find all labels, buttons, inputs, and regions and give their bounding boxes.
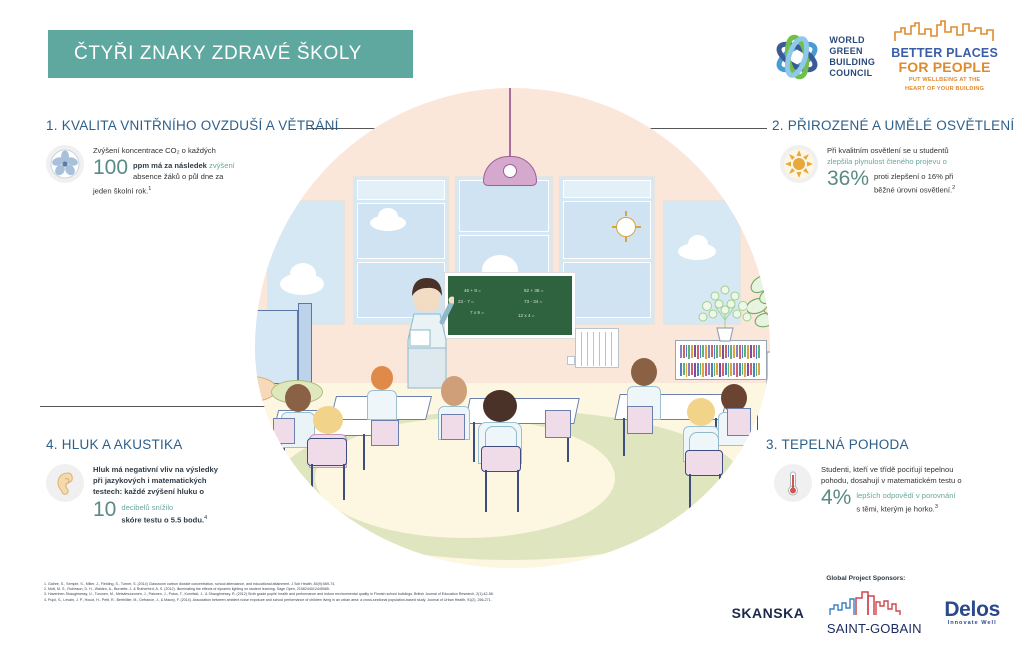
section-1-stat-text: ppm má za následek zvýšení absence žáků … <box>133 157 235 182</box>
equation: 46 + 8 = <box>464 288 481 293</box>
section-1-lead: Zvýšení koncentrace CO₂ o každých <box>93 145 235 156</box>
chair <box>307 438 347 466</box>
book <box>702 345 704 357</box>
radiator-fin <box>599 332 600 366</box>
fan-icon <box>46 145 84 183</box>
s1-after1: ppm má za následek <box>133 161 207 170</box>
leader-line-4 <box>40 406 285 407</box>
book <box>711 363 713 377</box>
book <box>694 345 696 357</box>
book <box>705 345 707 359</box>
sun-ray <box>612 226 617 228</box>
section-2-lead2: zlepšila plynulost čteného projevu o <box>827 156 955 167</box>
book <box>739 345 741 359</box>
delos-logo: Delos Innovate Well <box>944 600 1000 626</box>
book <box>730 345 732 359</box>
potted-plant-large-icon <box>747 258 770 388</box>
section-2-number: 36% <box>827 168 869 189</box>
section-4-text: Hluk má negativní vliv na výsledky při j… <box>93 464 218 527</box>
book <box>683 345 685 358</box>
book <box>705 363 707 376</box>
student-head <box>441 376 467 406</box>
delos-tagline: Innovate Well <box>944 620 1000 626</box>
section-1-tail-wrap: jeden školní rok.1 <box>93 184 235 197</box>
book <box>725 345 727 358</box>
ear-icon <box>46 464 84 502</box>
book <box>744 345 746 357</box>
desk-leg <box>623 418 625 456</box>
sun-icon <box>616 217 636 237</box>
chair-leg <box>311 464 313 500</box>
sun-ray <box>625 237 627 242</box>
desk-leg <box>473 422 475 462</box>
section-3-body: Studenti, kteří ve třídě pociťují tepeln… <box>774 464 962 515</box>
section-2: 2. PŘIROZENÉ A UMĚLÉ OSVĚTLENÍ Při kvali… <box>772 118 1014 196</box>
section-1-text: Zvýšení koncentrace CO₂ o každých 100 pp… <box>93 145 235 196</box>
section-4-lead3: testech: každé zvýšení hluku o <box>93 486 218 497</box>
book <box>688 345 690 359</box>
book <box>700 345 702 358</box>
book <box>716 345 718 358</box>
better-places-logo: BETTER PLACES FOR PEOPLE PUT WELLBEING A… <box>891 20 998 93</box>
section-2-heading: 2. PŘIROZENÉ A UMĚLÉ OSVĚTLENÍ <box>772 118 1014 133</box>
book <box>686 345 688 357</box>
page-title: ČTYŘI ZNAKY ZDRAVÉ ŠKOLY <box>48 43 362 65</box>
student-head <box>285 384 311 412</box>
chair <box>727 408 751 436</box>
section-4-number: 10 <box>93 499 116 520</box>
book <box>739 363 741 376</box>
window-pane <box>459 180 549 232</box>
window-pane <box>563 262 651 318</box>
equation: 23 - 7 = <box>458 299 474 304</box>
cloud-icon <box>290 263 316 285</box>
wgbc-line-3: BUILDING <box>829 57 875 68</box>
book <box>691 345 693 358</box>
book <box>733 345 735 358</box>
student-head <box>483 390 517 422</box>
radiator-fin <box>605 332 606 366</box>
section-2-ref: 2 <box>952 185 955 191</box>
book <box>719 363 721 377</box>
student-head <box>371 366 393 390</box>
section-3: 3. TEPELNÁ POHODA Studenti, kteří ve tří… <box>766 437 962 515</box>
book <box>742 345 744 358</box>
chair-leg <box>485 470 487 512</box>
book <box>744 363 746 377</box>
bpfp-line-2: FOR PEOPLE <box>891 60 998 75</box>
section-4: 4. HLUK A AKUSTIKA Hluk má negativní vli… <box>46 437 218 527</box>
section-3-lead2: pohodu, dosahují v matematickém testu o <box>821 475 962 486</box>
section-4-lead2: při jazykových i matematických <box>93 475 218 486</box>
sun-icon <box>780 145 818 183</box>
book <box>697 363 699 376</box>
s3-after1: lepších odpovědí v porovnání <box>856 491 955 500</box>
cloud-icon <box>378 208 398 225</box>
chair-leg <box>517 470 519 512</box>
book <box>733 363 735 375</box>
title-banner: ČTYŘI ZNAKY ZDRAVÉ ŠKOLY <box>48 30 413 78</box>
projection-screen <box>255 310 298 384</box>
section-1-number: 100 <box>93 157 128 178</box>
student-head <box>631 358 657 386</box>
book <box>680 345 682 358</box>
section-1-ref: 1 <box>148 186 151 192</box>
radiator <box>575 328 619 368</box>
sponsors-row: SKANSKA SAINT-GOBAIN Delos Innovate Well <box>732 590 1000 636</box>
book <box>697 345 699 359</box>
equation: 7 x 9 = <box>470 310 484 315</box>
sponsors-block: Global Project Sponsors: SKANSKA SAINT-G… <box>732 575 1000 636</box>
window-pane <box>357 203 445 259</box>
skanska-logo: SKANSKA <box>732 605 805 621</box>
radiator-fin <box>593 332 594 366</box>
s2-after2: běžné úrovni osvětlení. <box>874 185 952 194</box>
s1-after3: absence žáků o půl dne za <box>133 172 223 181</box>
section-4-heading: 4. HLUK A AKUSTIKA <box>46 437 218 452</box>
wgbc-line-1: WORLD <box>829 35 875 46</box>
sun-ray <box>636 226 641 228</box>
lamp-bulb-ring <box>503 164 517 178</box>
book <box>688 363 690 376</box>
section-1-body: Zvýšení koncentrace CO₂ o každých 100 pp… <box>46 145 339 196</box>
sun-glyph <box>783 148 815 180</box>
book <box>700 363 702 375</box>
section-3-number: 4% <box>821 487 851 508</box>
footnote-4: 4. Pujol, S., Levain, J. P., Houot, H., … <box>44 598 604 603</box>
book <box>711 345 713 357</box>
book <box>680 363 682 376</box>
s2-after1: proti zlepšení o 16% při <box>874 172 953 181</box>
book <box>714 363 716 376</box>
wgbc-logo: WORLD GREEN BUILDING COUNCIL <box>773 33 875 81</box>
window-pane <box>563 180 651 198</box>
chair <box>481 446 521 472</box>
book <box>691 363 693 375</box>
section-2-text: Při kvalitním osvětlení se u studentů zl… <box>827 145 955 196</box>
chair-leg <box>719 474 721 514</box>
chair <box>371 420 399 446</box>
window-pane <box>357 180 445 200</box>
fan-glyph <box>50 149 80 179</box>
book <box>742 363 744 375</box>
equation: 73 - 34 = <box>524 299 542 304</box>
thermometer-icon <box>774 464 812 502</box>
radiator-fin <box>611 332 612 366</box>
section-3-lead: Studenti, kteří ve třídě pociťují tepeln… <box>821 464 962 475</box>
book <box>708 363 710 375</box>
book <box>722 345 724 359</box>
student-head <box>687 398 715 426</box>
book <box>694 363 696 377</box>
s3-after2: s těmi, kterým je horko. <box>856 504 935 513</box>
student-head <box>313 406 343 434</box>
chair <box>685 450 723 476</box>
ear-glyph <box>50 468 80 498</box>
section-2-lead: Při kvalitním osvětlení se u studentů <box>827 145 955 156</box>
sun-ray <box>625 211 627 216</box>
bpfp-line-3: PUT WELLBEING AT THE <box>891 77 998 84</box>
chair <box>273 418 295 444</box>
book <box>730 363 732 376</box>
chair-leg <box>343 464 345 500</box>
section-3-stat-text: lepších odpovědí v porovnání s těmi, kte… <box>856 487 955 514</box>
section-3-ref: 3 <box>935 504 938 510</box>
book <box>714 345 716 359</box>
section-2-stat-text: proti zlepšení o 16% při běžné úrovni os… <box>874 168 955 195</box>
cloud-icon <box>688 235 708 253</box>
section-1-tail: jeden školní rok. <box>93 186 148 195</box>
wgbc-globe-icon <box>773 33 821 81</box>
section-2-body: Při kvalitním osvětlení se u studentů zl… <box>780 145 1014 196</box>
section-3-stat: 4% lepších odpovědí v porovnání s těmi, … <box>821 487 962 514</box>
delos-wordmark: Delos <box>944 600 1000 620</box>
desk-leg <box>363 434 365 470</box>
chair-leg <box>689 474 691 514</box>
saint-gobain-logo: SAINT-GOBAIN <box>826 590 922 636</box>
section-4-lead: Hluk má negativní vliv na výsledky <box>93 464 218 475</box>
footnotes-list: 1. Gaihre, S., Semple, S., Miller, J., F… <box>44 582 604 603</box>
s4-after1: decibelů snížilo <box>121 503 173 512</box>
wgbc-line-2: GREEN <box>829 46 875 57</box>
equation: 52 + 38 = <box>524 288 543 293</box>
book <box>716 363 718 375</box>
radiator-fin <box>581 332 582 366</box>
section-4-ref: 4 <box>204 515 207 521</box>
section-4-stat: 10 decibelů snížilo skóre testu o 5.5 bo… <box>93 499 218 526</box>
saint-gobain-wordmark: SAINT-GOBAIN <box>826 621 922 636</box>
student-figure <box>371 366 397 420</box>
chair <box>545 410 571 438</box>
section-1-heading: 1. KVALITA VNITŘNÍHO OVZDUŠÍ A VĚTRÁNÍ <box>46 118 339 133</box>
thermometer-glyph <box>778 468 808 498</box>
book <box>725 363 727 375</box>
section-4-stat-text: decibelů snížilo skóre testu o 5.5 bodu.… <box>121 499 207 526</box>
section-3-heading: 3. TEPELNÁ POHODA <box>766 437 962 452</box>
s1-after2: zvýšení <box>209 161 235 170</box>
radiator-fin <box>587 332 588 366</box>
section-1: 1. KVALITA VNITŘNÍHO OVZDUŠÍ A VĚTRÁNÍ <box>46 118 339 196</box>
window-pane <box>563 201 651 259</box>
blackboard: 46 + 8 = 23 - 7 = 7 x 9 = 52 + 38 = 73 -… <box>445 273 575 338</box>
book <box>708 345 710 358</box>
bpfp-line-4: HEART OF YOUR BUILDING <box>891 86 998 93</box>
book <box>722 363 724 376</box>
radiator-valve <box>567 356 575 365</box>
student-body <box>367 390 397 420</box>
screen-side-panel <box>298 303 312 387</box>
book <box>736 345 738 357</box>
book <box>702 363 704 377</box>
saint-gobain-skyline-icon <box>826 590 922 616</box>
chair <box>441 414 465 440</box>
infographic-page: ČTYŘI ZNAKY ZDRAVÉ ŠKOLY WORLD GREEN BUI… <box>0 0 1024 652</box>
book <box>736 363 738 377</box>
book <box>728 363 730 377</box>
section-1-stat: 100 ppm má za následek zvýšení absence ž… <box>93 157 235 182</box>
book <box>686 363 688 377</box>
book <box>719 345 721 357</box>
skyline-icon <box>893 20 997 42</box>
section-2-stat: 36% proti zlepšení o 16% při běžné úrovn… <box>827 168 955 195</box>
logo-group: WORLD GREEN BUILDING COUNCIL BETTER PLAC… <box>773 20 998 93</box>
section-3-text: Studenti, kteří ve třídě pociťují tepeln… <box>821 464 962 515</box>
wgbc-line-4: COUNCIL <box>829 68 875 79</box>
book <box>683 363 685 375</box>
sponsors-label: Global Project Sponsors: <box>732 575 1000 582</box>
lamp-cord <box>509 88 511 158</box>
chair <box>627 406 653 434</box>
book <box>728 345 730 357</box>
s4-after2: skóre testu o 5.5 bodu. <box>121 515 204 524</box>
equation: 12 x 4 = <box>518 313 534 318</box>
section-4-body: Hluk má negativní vliv na výsledky při j… <box>46 464 218 527</box>
wgbc-wordmark: WORLD GREEN BUILDING COUNCIL <box>829 35 875 79</box>
